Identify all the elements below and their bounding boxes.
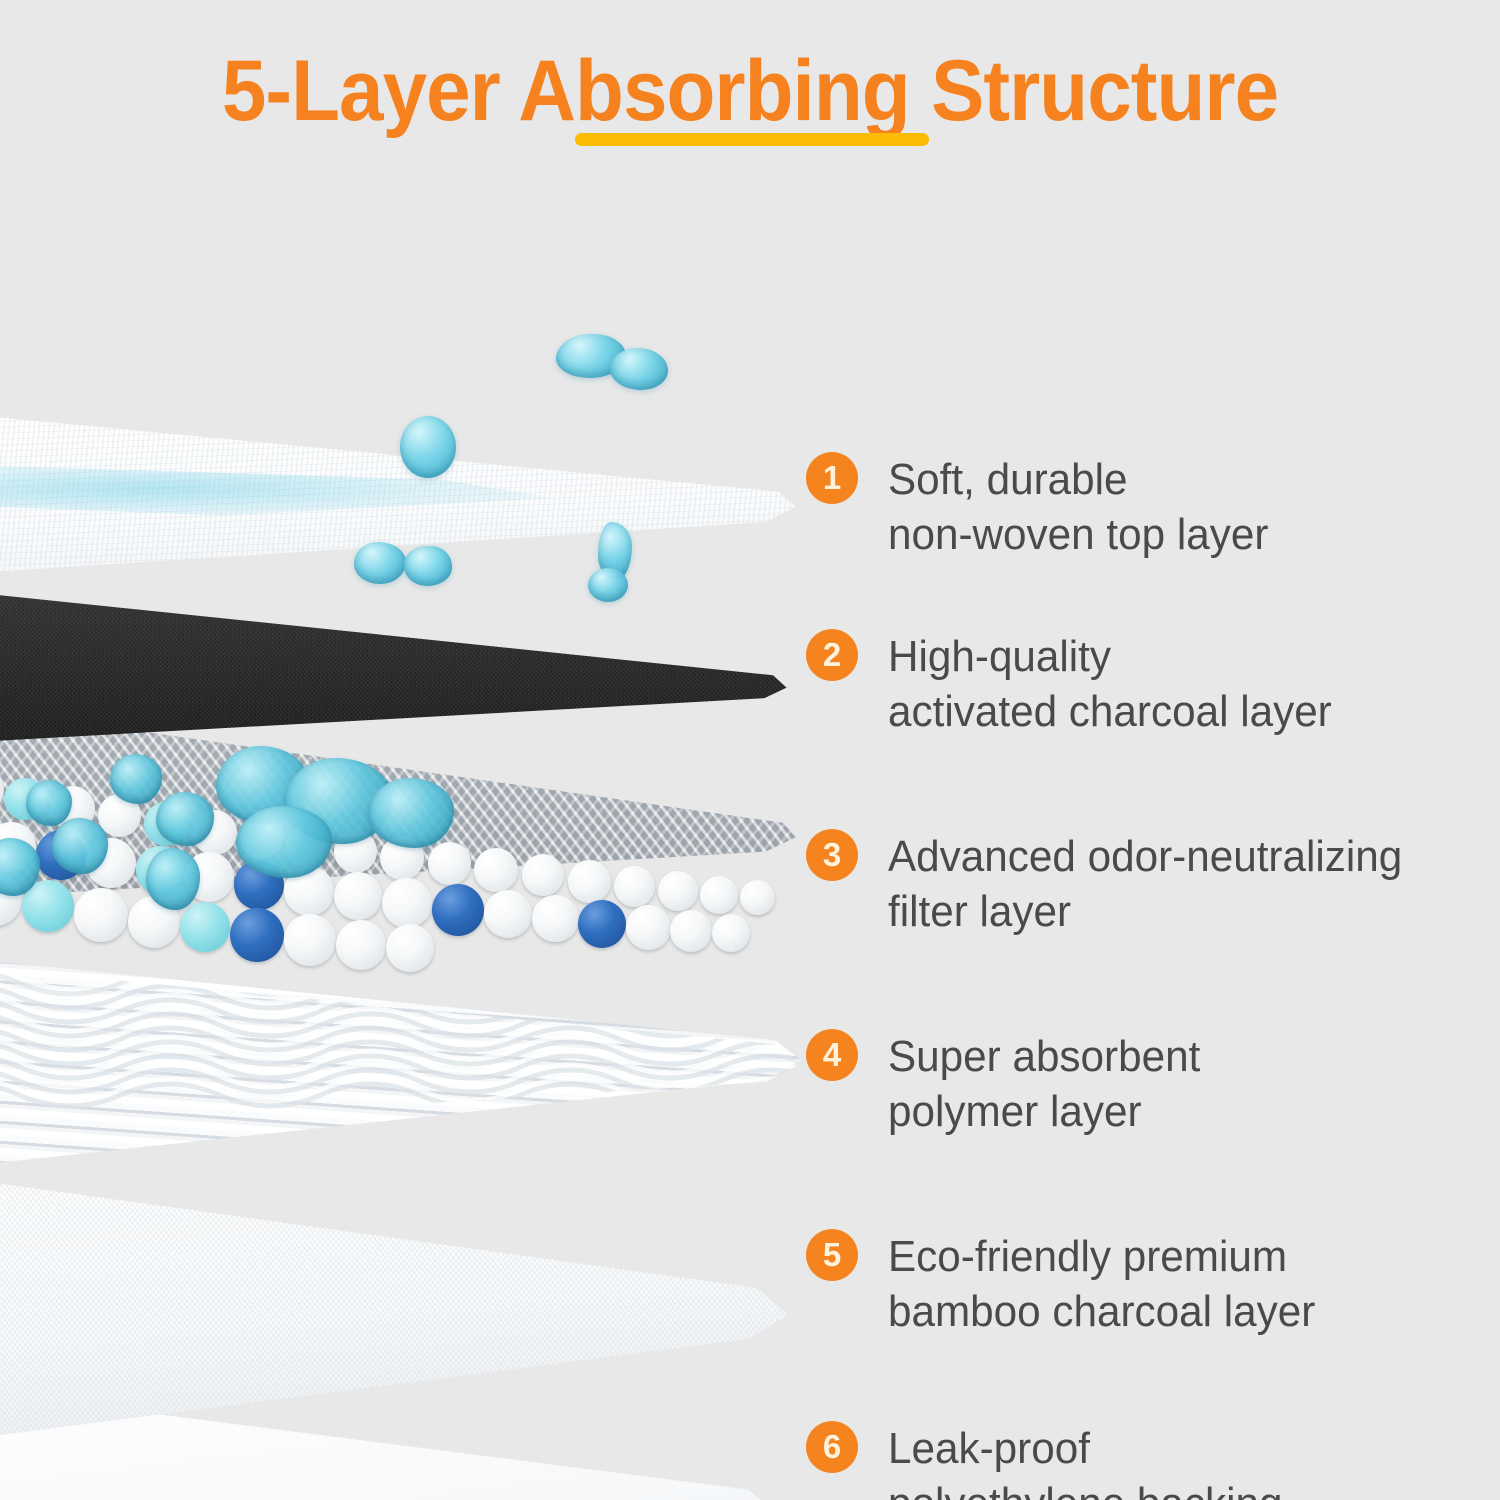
callout-non-woven-top-layer[interactable]: 1 Soft, durable non-woven top layer (806, 452, 1284, 563)
callout-badge-4: 4 (806, 1029, 858, 1081)
callout-super-absorbent-polymer-layer[interactable]: 4 Super absorbent polymer layer (806, 1029, 1213, 1140)
callout-odor-neutralizing-filter-layer[interactable]: 3 Advanced odor-neutralizing filter laye… (806, 829, 1424, 940)
callout-badge-1: 1 (806, 452, 858, 504)
callout-label-4: Super absorbent polymer layer (888, 1029, 1200, 1140)
callout-label-3: Advanced odor-neutralizing filter layer (888, 829, 1402, 940)
infographic-canvas: 5-Layer Absorbing Structure (0, 0, 1500, 1500)
callout-label-5: Eco-friendly premium bamboo charcoal lay… (888, 1229, 1315, 1340)
callout-bamboo-charcoal-layer[interactable]: 5 Eco-friendly premium bamboo charcoal l… (806, 1229, 1333, 1340)
callout-activated-charcoal-layer[interactable]: 2 High-quality activated charcoal layer (806, 629, 1350, 740)
callout-badge-5: 5 (806, 1229, 858, 1281)
callout-label-6: Leak-proof polyethylene backing (888, 1421, 1283, 1500)
callout-list: 1 Soft, durable non-woven top layer 2 Hi… (0, 0, 1500, 1500)
callout-label-2: High-quality activated charcoal layer (888, 629, 1332, 740)
callout-badge-3: 3 (806, 829, 858, 881)
callout-label-1: Soft, durable non-woven top layer (888, 452, 1268, 563)
callout-badge-2: 2 (806, 629, 858, 681)
callout-polyethylene-backing[interactable]: 6 Leak-proof polyethylene backing (806, 1421, 1299, 1500)
callout-badge-6: 6 (806, 1421, 858, 1473)
